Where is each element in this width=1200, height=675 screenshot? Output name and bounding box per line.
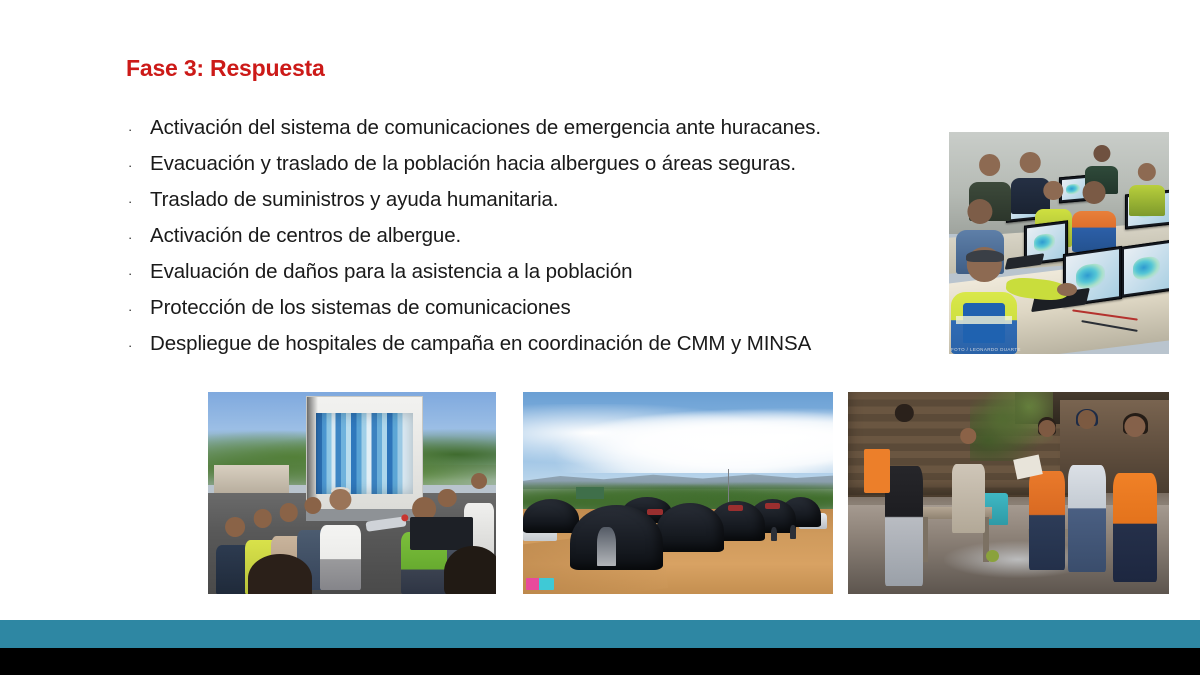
building [214, 465, 289, 493]
supply-boxes [316, 413, 413, 494]
list-item: · Despliegue de hospitales de campaña en… [120, 326, 950, 362]
list-item-label: Protección de los sistemas de comunicaci… [150, 290, 571, 326]
list-item-label: Traslado de suministros y ayuda humanita… [150, 182, 558, 218]
eoc-operator [1072, 181, 1116, 252]
resident [951, 428, 986, 533]
bullet-dot-icon: · [120, 292, 150, 328]
list-item: · Activación de centros de albergue. [120, 218, 950, 254]
footer-base-bar [0, 648, 1200, 675]
monitor-icon [1121, 239, 1169, 298]
eoc-scene [949, 132, 1169, 354]
truck-scene [208, 392, 496, 594]
list-item-label: Evacuación y traslado de la población ha… [150, 146, 796, 182]
relief-vest-bag [864, 449, 890, 493]
eoc-operator [1129, 163, 1164, 216]
operator-hand [1057, 283, 1077, 296]
person-figure [790, 525, 796, 539]
person-figure [771, 527, 777, 541]
list-item: · Activación del sistema de comunicacion… [120, 110, 950, 146]
list-item: · Protección de los sistemas de comunica… [120, 290, 950, 326]
green-building [576, 487, 604, 499]
field-hospital-tents-photo [523, 392, 833, 594]
page-title: Fase 3: Respuesta [126, 55, 325, 82]
bullet-dot-icon: · [120, 220, 150, 256]
tent-marking [647, 509, 663, 515]
list-item-label: Activación del sistema de comunicaciones… [150, 110, 821, 146]
relief-worker [1066, 410, 1108, 572]
video-camera-icon [410, 517, 473, 549]
relief-worker [1028, 420, 1067, 569]
list-item-label: Evaluación de daños para la asistencia a… [150, 254, 632, 290]
assessment-scene [848, 392, 1169, 594]
list-item: · Evaluación de daños para la asistencia… [120, 254, 950, 290]
bullet-dot-icon: · [120, 148, 150, 184]
bullet-list: · Activación del sistema de comunicacion… [120, 110, 950, 362]
tent-marking [765, 503, 781, 509]
slide-canvas: Fase 3: Respuesta · Activación del siste… [0, 0, 1200, 675]
resident [883, 404, 925, 586]
bullet-dot-icon: · [120, 328, 150, 364]
photo-credit: FOTO / LEONARDO DUARTE [951, 347, 1021, 352]
list-item-label: Activación de centros de albergue. [150, 218, 461, 254]
watermark-logo [526, 578, 554, 590]
field-tent [523, 499, 579, 533]
aid-supplies-truck-photo [208, 392, 496, 594]
footer-accent-bar [0, 620, 1200, 648]
list-item: · Traslado de suministros y ayuda humani… [120, 182, 950, 218]
eoc-operator-foreground [951, 247, 1017, 354]
coconut [986, 550, 999, 562]
emergency-operations-center-photo: FOTO / LEONARDO DUARTE [949, 132, 1169, 354]
bullet-dot-icon: · [120, 184, 150, 220]
bullet-dot-icon: · [120, 256, 150, 292]
tents-scene [523, 392, 833, 594]
list-item-label: Despliegue de hospitales de campaña en c… [150, 326, 811, 362]
tent-marking [728, 505, 744, 511]
official-speaker [317, 489, 363, 590]
foreground-head [444, 546, 496, 594]
list-item: · Evacuación y traslado de la población … [120, 146, 950, 182]
bullet-dot-icon: · [120, 112, 150, 148]
relief-worker [1111, 416, 1159, 582]
damage-assessment-photo [848, 392, 1169, 594]
clouds [523, 404, 833, 473]
